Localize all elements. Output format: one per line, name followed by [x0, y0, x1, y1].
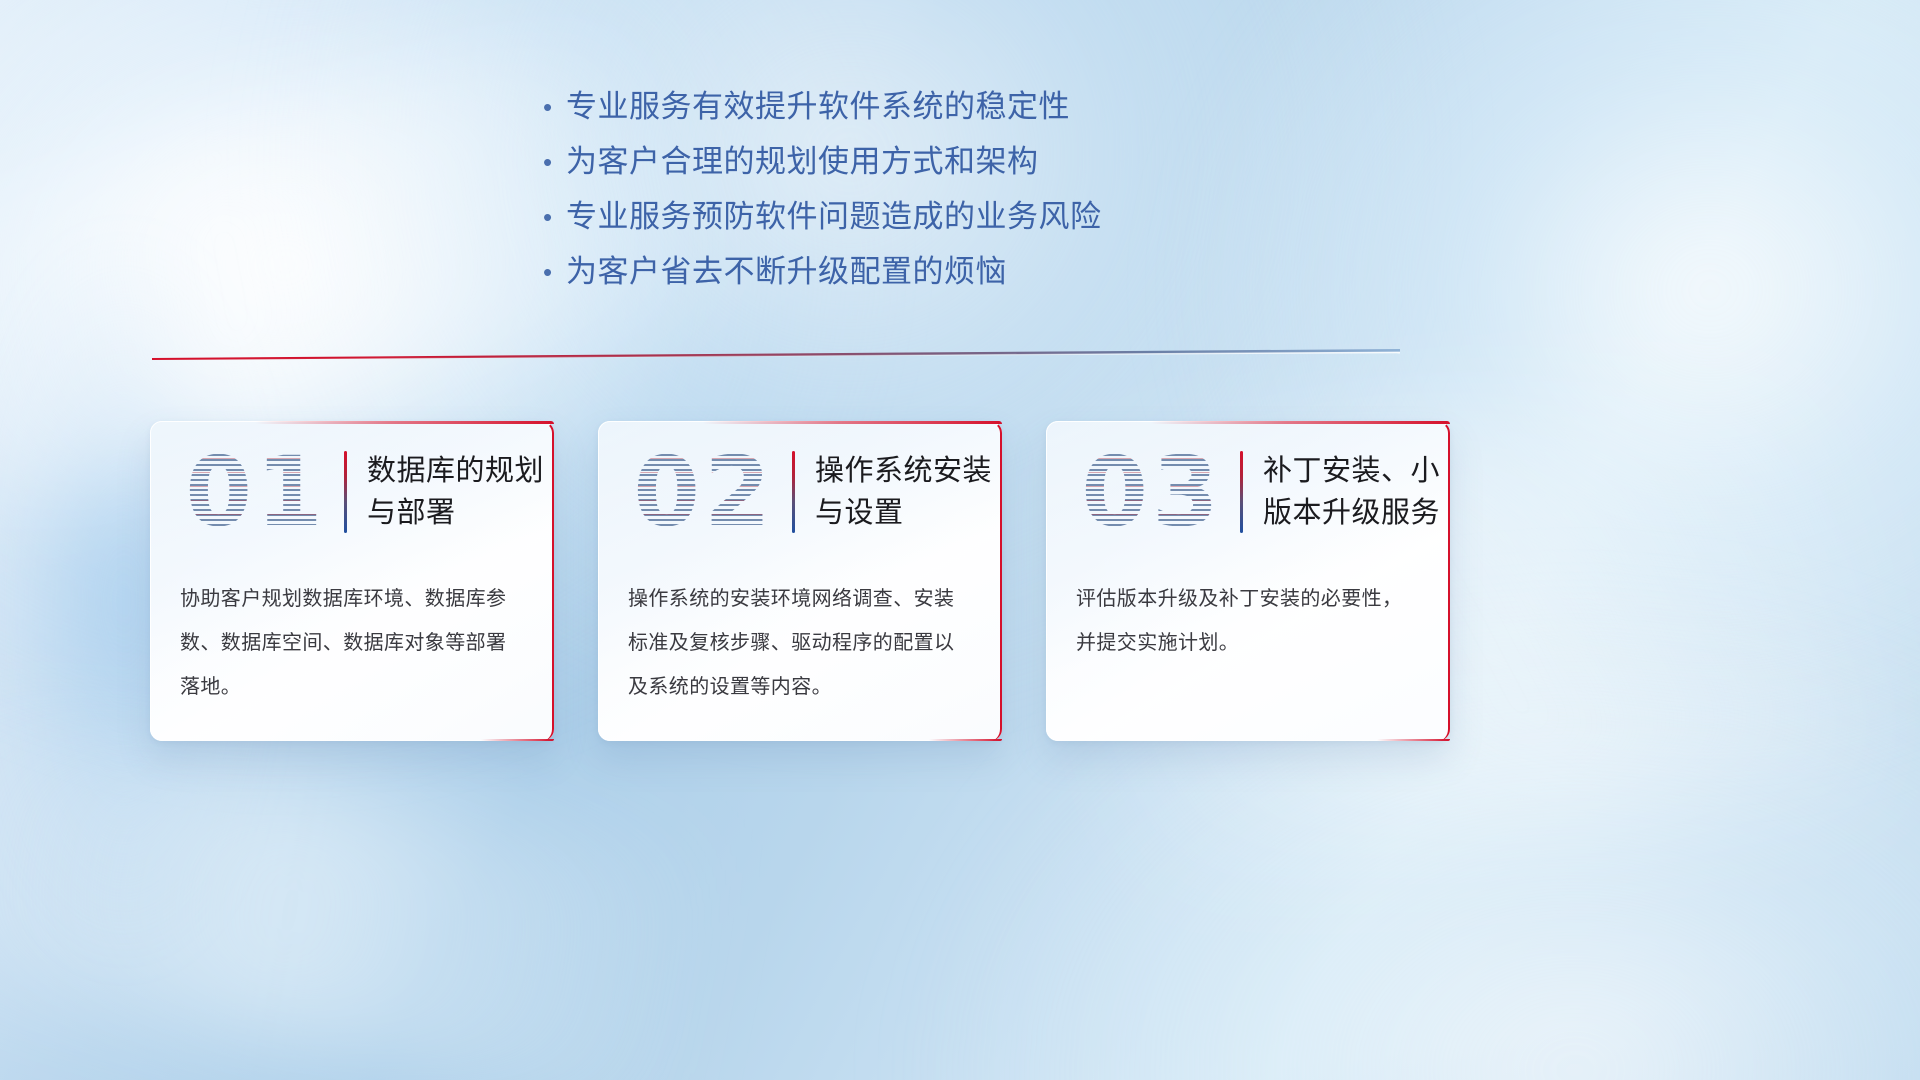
- card-title: 补丁安装、小版本升级服务: [1263, 450, 1450, 534]
- card-accent-bottom: [1377, 739, 1450, 742]
- card-description: 协助客户规划数据库环境、数据库参数、数据库空间、数据库对象等部署落地。: [150, 563, 554, 709]
- bullet-dot-icon: •: [540, 88, 566, 126]
- bullet-text: 专业服务预防软件问题造成的业务风险: [566, 198, 1102, 236]
- bullet-list: • 专业服务有效提升软件系统的稳定性 • 为客户合理的规划使用方式和架构 • 专…: [540, 88, 1440, 308]
- slide-canvas: • 专业服务有效提升软件系统的稳定性 • 为客户合理的规划使用方式和架构 • 专…: [0, 0, 1920, 1080]
- card-header: 03 03 补丁安装、小版本升级服务: [1046, 421, 1450, 563]
- feature-card[interactable]: 01 01 数据库的规划与部署 协助客户规划数据库环境、数据库参数、数据库空间、…: [150, 421, 554, 741]
- card-description: 操作系统的安装环境网络调查、安装标准及复核步骤、驱动程序的配置以及系统的设置等内…: [598, 563, 1002, 709]
- card-accent-bottom: [929, 739, 1002, 742]
- card-number-watermark: 03 03: [1064, 432, 1240, 552]
- card-title: 数据库的规划与部署: [367, 450, 554, 534]
- feature-card-row: 01 01 数据库的规划与部署 协助客户规划数据库环境、数据库参数、数据库空间、…: [150, 421, 1450, 743]
- bullet-dot-icon: •: [540, 143, 566, 181]
- card-accent-bottom: [481, 739, 554, 742]
- card-header: 02 02 操作系统安装与设置: [598, 421, 1002, 563]
- card-number-text: 02: [633, 444, 775, 540]
- feature-card[interactable]: 02 02 操作系统安装与设置 操作系统的安装环境网络调查、安装标准及复核步骤、…: [598, 421, 1002, 741]
- list-item: • 为客户合理的规划使用方式和架构: [540, 143, 1440, 181]
- bullet-dot-icon: •: [540, 253, 566, 291]
- card-number-watermark: 01 01: [168, 432, 344, 552]
- card-title-separator: [1240, 451, 1243, 533]
- list-item: • 专业服务有效提升软件系统的稳定性: [540, 88, 1440, 126]
- card-title: 操作系统安装与设置: [815, 450, 1002, 534]
- bullet-text: 为客户合理的规划使用方式和架构: [566, 143, 1039, 181]
- card-header: 01 01 数据库的规划与部署: [150, 421, 554, 563]
- card-description: 评估版本升级及补丁安装的必要性，并提交实施计划。: [1046, 563, 1450, 665]
- card-number-text: 01: [185, 444, 327, 540]
- feature-card[interactable]: 03 03 补丁安装、小版本升级服务 评估版本升级及补丁安装的必要性，并提交实施…: [1046, 421, 1450, 741]
- bullet-text: 为客户省去不断升级配置的烦恼: [566, 253, 1007, 291]
- card-number-text: 03: [1081, 444, 1223, 540]
- card-number-watermark: 02 02: [616, 432, 792, 552]
- list-item: • 为客户省去不断升级配置的烦恼: [540, 253, 1440, 291]
- bullet-text: 专业服务有效提升软件系统的稳定性: [566, 88, 1070, 126]
- card-title-separator: [792, 451, 795, 533]
- bullet-dot-icon: •: [540, 198, 566, 236]
- list-item: • 专业服务预防软件问题造成的业务风险: [540, 198, 1440, 236]
- card-title-separator: [344, 451, 347, 533]
